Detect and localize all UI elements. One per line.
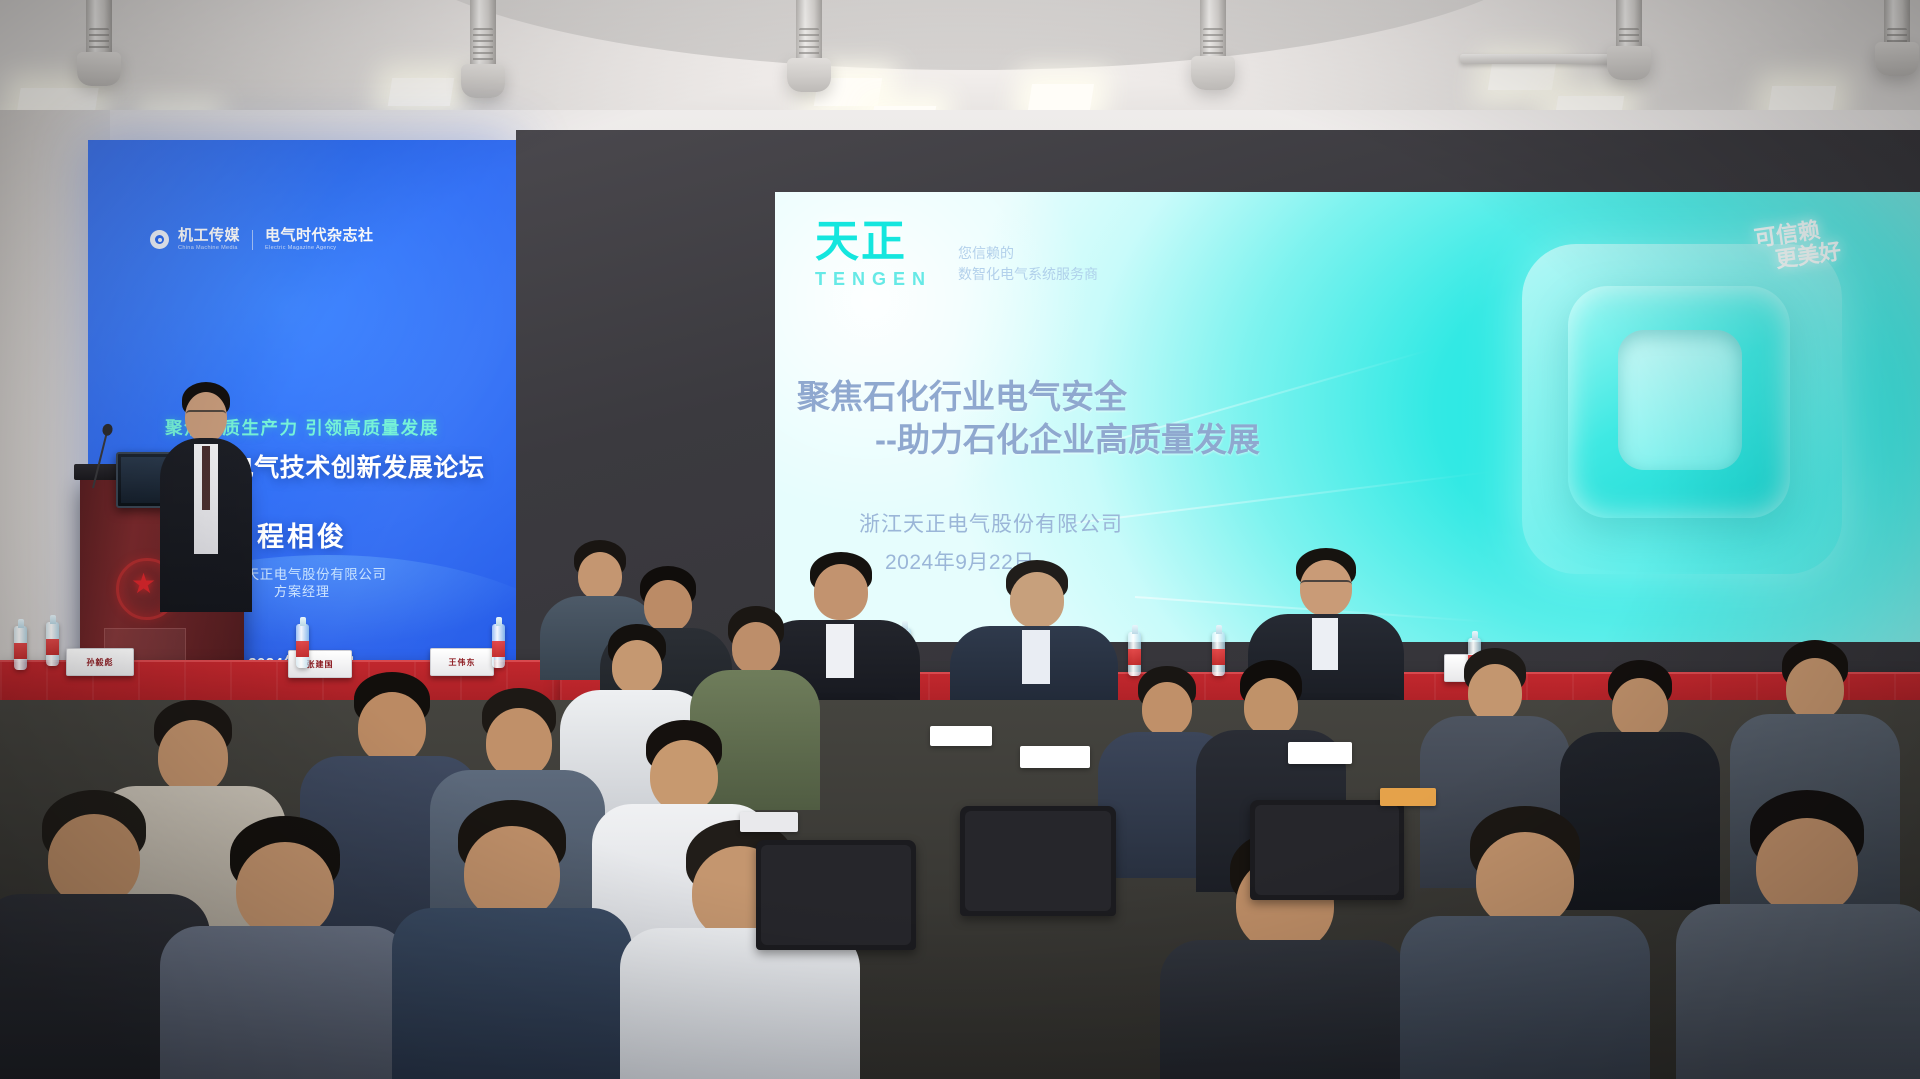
- spotlight-icon: [1200, 0, 1226, 64]
- paper-sheet: [1020, 746, 1090, 768]
- spotlight-icon: [1884, 0, 1910, 50]
- ceiling-panel-light: [1488, 62, 1556, 90]
- paper-sheet: [740, 812, 798, 832]
- audience-member-front: [392, 800, 632, 1079]
- organizer-logo-secondary-en: Electric Magazine Agency: [265, 246, 374, 252]
- spotlight-icon: [1616, 0, 1642, 54]
- ceiling-panel-light: [388, 78, 454, 106]
- speaker-at-podium: [160, 382, 252, 612]
- seated-guest: [950, 560, 1118, 708]
- name-placard: 孙毅彪: [66, 648, 134, 676]
- slide-title-line1: 聚焦石化行业电气安全: [797, 378, 1127, 415]
- conference-hall-photo: 机工传媒 China Machine Media 电气时代杂志社 Electri…: [0, 0, 1920, 1079]
- audience-member-front: [160, 816, 410, 1079]
- tengen-tagline: 您信赖的 数智化电气系统服务商: [958, 243, 1098, 288]
- paper-sheet: [1288, 742, 1352, 764]
- slide-organization: 浙江天正电气股份有限公司: [859, 508, 1123, 538]
- slide-corner-slogan: 可信赖 更美好: [1753, 210, 1891, 311]
- folder-icon: [1380, 788, 1436, 806]
- organizer-logo-primary-en: China Machine Media: [178, 246, 240, 252]
- tengen-brand-en: TENGEN: [815, 270, 932, 288]
- audience-member-front: [1400, 806, 1650, 1079]
- water-bottle-icon: [492, 624, 505, 668]
- paper-sheet: [930, 726, 992, 746]
- gear-circle-icon: [150, 230, 169, 249]
- slide-title-line2: --助力石化企业高质量发展: [797, 419, 1880, 462]
- ceiling-panel-light: [1028, 84, 1094, 110]
- tengen-brand-logo: 天正 TENGEN 您信赖的 数智化电气系统服务商: [815, 220, 1098, 288]
- chair-icon: [756, 840, 916, 950]
- chair-icon: [1250, 800, 1404, 900]
- water-bottle-icon: [14, 626, 27, 670]
- tengen-tagline-line2: 数智化电气系统服务商: [958, 264, 1098, 284]
- chair-icon: [960, 806, 1116, 916]
- spotlight-icon: [86, 0, 112, 60]
- tengen-tagline-line1: 您信赖的: [958, 243, 1098, 263]
- spotlight-icon: [796, 0, 822, 66]
- logo-divider: [252, 230, 253, 250]
- water-bottle-icon: [296, 624, 309, 668]
- ceiling-arc: [380, 0, 1560, 70]
- tengen-brand-cn: 天正: [815, 220, 932, 264]
- spotlight-icon: [470, 0, 496, 72]
- water-bottle-icon: [46, 622, 59, 666]
- organizer-logo: 机工传媒 China Machine Media 电气时代杂志社 Electri…: [150, 228, 374, 252]
- forum-subtitle: 聚焦新质生产力 引领高质量发展: [88, 415, 516, 440]
- slide-title: 聚焦石化行业电气安全 --助力石化企业高质量发展: [797, 376, 1880, 462]
- audience-member-front: [1676, 790, 1920, 1079]
- organizer-logo-secondary-cn: 电气时代杂志社: [265, 228, 374, 243]
- organizer-logo-primary-cn: 机工传媒: [178, 228, 240, 243]
